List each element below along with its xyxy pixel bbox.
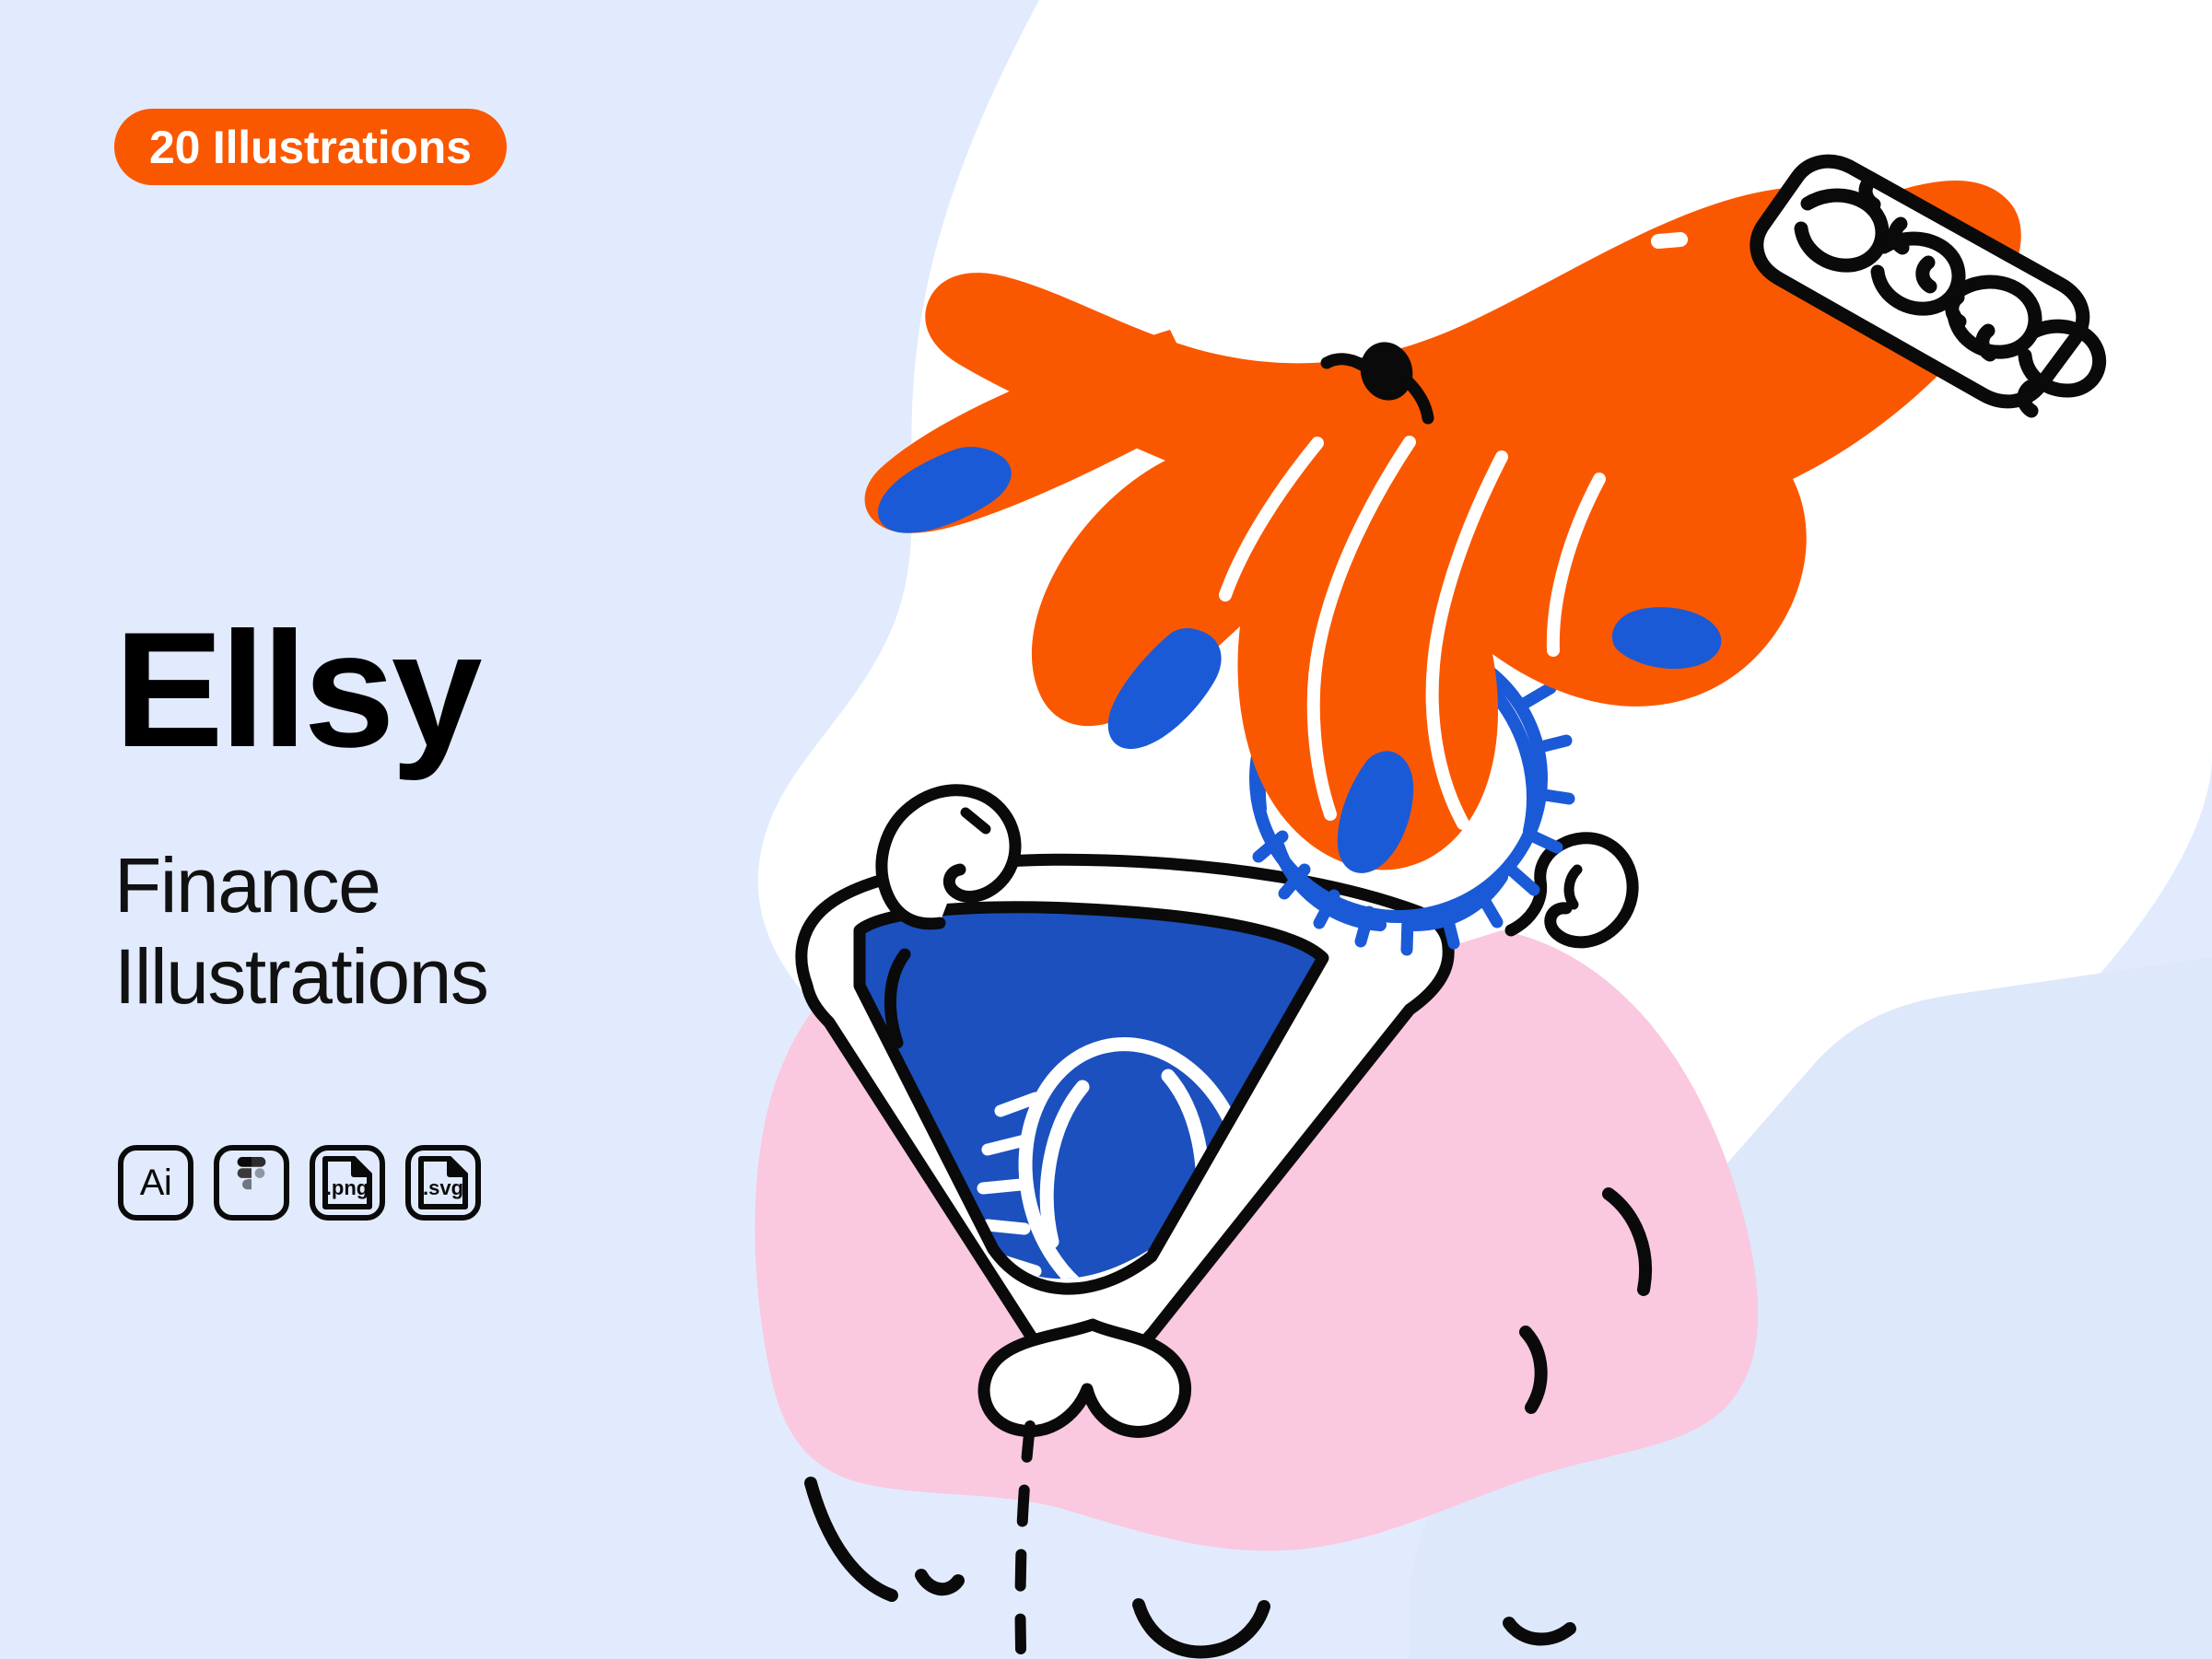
illustration-count-badge: 20 Illustrations	[114, 109, 507, 185]
format-badge-png[interactable]: .png	[310, 1145, 385, 1221]
format-badge-figma[interactable]	[214, 1145, 289, 1221]
format-badge-ai[interactable]: Ai	[118, 1145, 193, 1221]
file-format-list: Ai	[118, 1145, 481, 1221]
adobe-illustrator-icon: Ai	[140, 1164, 172, 1201]
poster-subtitle: Finance Illustrations	[114, 840, 487, 1022]
figma-icon	[233, 1157, 270, 1209]
page-title: Ellsy	[114, 608, 479, 772]
file-png-icon: .png	[321, 1154, 374, 1211]
svg-text:.png: .png	[326, 1176, 369, 1199]
svg-text:.svg: .svg	[423, 1176, 463, 1199]
finance-illustration	[0, 0, 2212, 1659]
poster-canvas: 20 Illustrations Ellsy Finance Illustrat…	[0, 0, 2212, 1659]
format-badge-svg[interactable]: .svg	[405, 1145, 481, 1221]
file-svg-icon: .svg	[416, 1154, 470, 1211]
